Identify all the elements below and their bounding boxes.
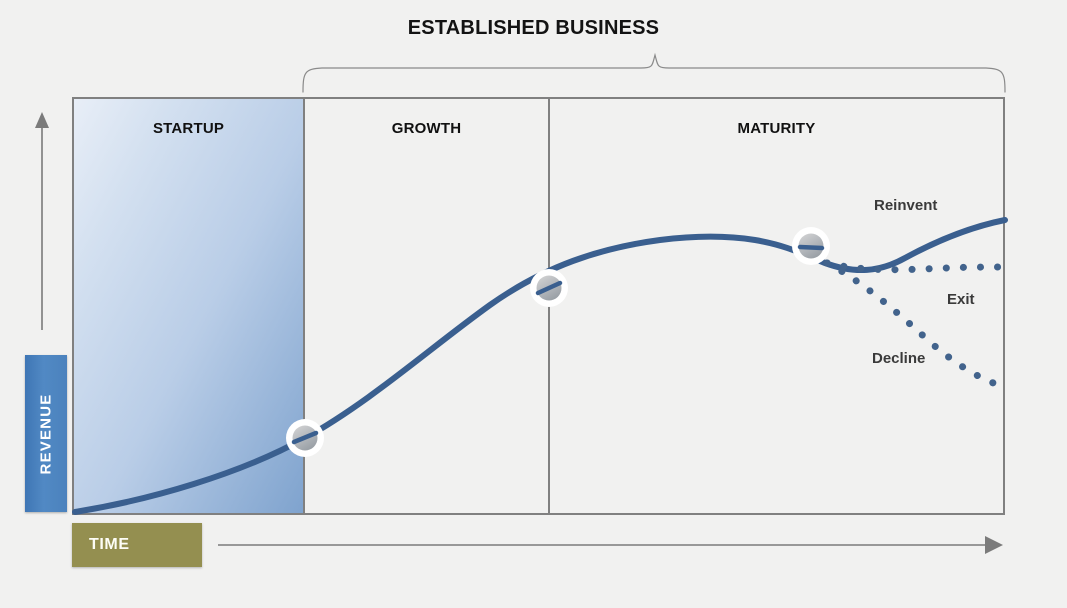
plot-area: STARTUP GROWTH MATURITY (72, 97, 1005, 515)
stage-label-startup: STARTUP (74, 120, 303, 137)
stage-panel-maturity: MATURITY (550, 99, 1003, 513)
x-axis-label-text: TIME (89, 536, 130, 554)
revenue-axis-arrow-icon (35, 112, 49, 330)
y-axis-label-text: REVENUE (38, 393, 55, 474)
x-axis-label-time: TIME (72, 523, 202, 567)
stage-panel-startup: STARTUP (74, 99, 305, 513)
branch-label-decline: Decline (872, 350, 925, 367)
stage-label-maturity: MATURITY (550, 120, 1003, 137)
time-axis-arrow-icon (218, 536, 1003, 554)
y-axis-label-revenue: REVENUE (25, 355, 67, 512)
stage-panel-growth: GROWTH (305, 99, 550, 513)
page-title: ESTABLISHED BUSINESS (0, 17, 1067, 40)
branch-label-exit: Exit (947, 291, 975, 308)
diagram-canvas: ESTABLISHED BUSINESS STARTUP GROWTH MATU… (0, 0, 1067, 608)
stage-label-growth: GROWTH (305, 120, 548, 137)
branch-label-reinvent: Reinvent (874, 197, 937, 214)
